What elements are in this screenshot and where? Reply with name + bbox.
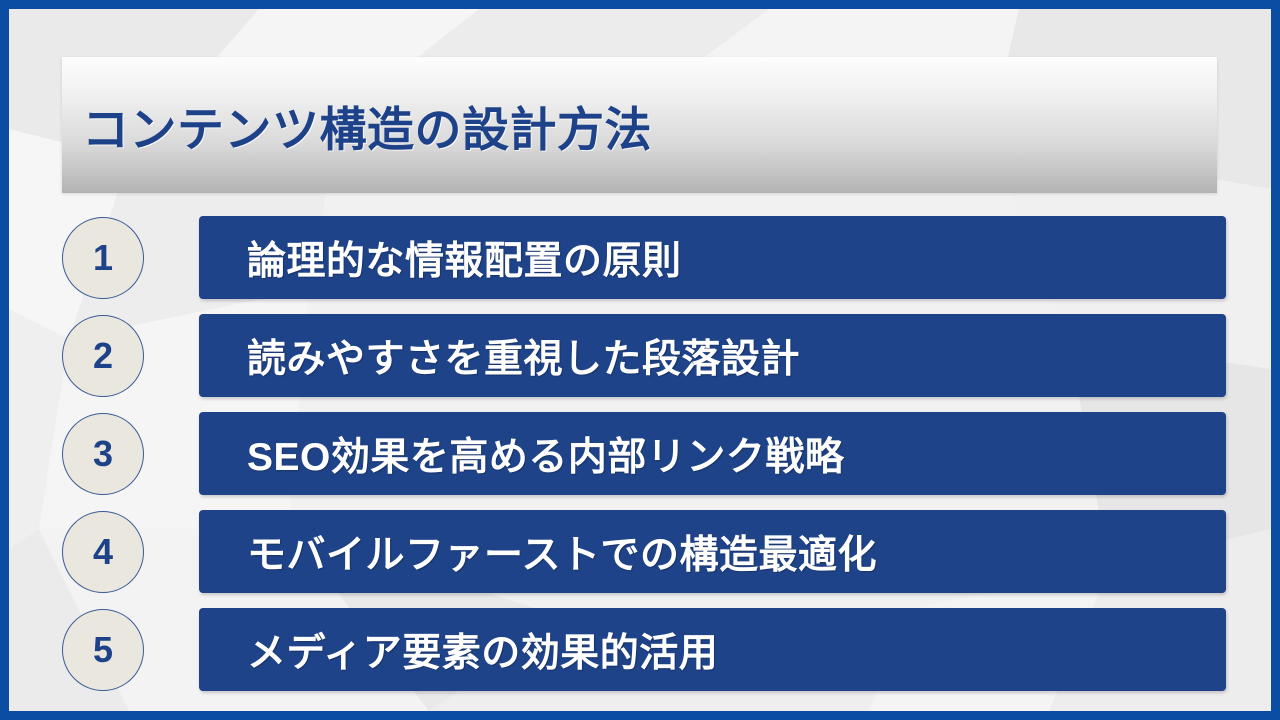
list-number-badge: 4 xyxy=(62,511,144,593)
list-item-bar[interactable]: 論理的な情報配置の原則 xyxy=(199,216,1226,299)
list-item-label: モバイルファーストでの構造最適化 xyxy=(247,524,877,580)
list-item-bar[interactable]: モバイルファーストでの構造最適化 xyxy=(199,510,1226,593)
list-number-badge: 3 xyxy=(62,413,144,495)
page-title: コンテンツ構造の設計方法 xyxy=(82,91,652,160)
slide-canvas: コンテンツ構造の設計方法 1 論理的な情報配置の原則 2 読みやすさを重視した段… xyxy=(9,9,1271,711)
list-item-bar[interactable]: SEO効果を高める内部リンク戦略 xyxy=(199,412,1226,495)
list-item-label: 論理的な情報配置の原則 xyxy=(247,230,682,286)
list-number-label: 1 xyxy=(93,240,113,276)
list-item[interactable]: 2 読みやすさを重視した段落設計 xyxy=(62,314,1226,397)
presentation-slide: コンテンツ構造の設計方法 1 論理的な情報配置の原則 2 読みやすさを重視した段… xyxy=(0,0,1280,720)
list-item[interactable]: 4 モバイルファーストでの構造最適化 xyxy=(62,510,1226,593)
list-item-label: 読みやすさを重視した段落設計 xyxy=(247,328,800,384)
list-number-label: 2 xyxy=(93,338,113,374)
numbered-list: 1 論理的な情報配置の原則 2 読みやすさを重視した段落設計 3 xyxy=(62,216,1226,691)
list-item[interactable]: 1 論理的な情報配置の原則 xyxy=(62,216,1226,299)
slide-title-bar: コンテンツ構造の設計方法 xyxy=(62,57,1217,193)
list-item-bar[interactable]: メディア要素の効果的活用 xyxy=(199,608,1226,691)
list-number-label: 5 xyxy=(93,632,113,668)
list-item[interactable]: 5 メディア要素の効果的活用 xyxy=(62,608,1226,691)
list-number-label: 4 xyxy=(93,534,113,570)
list-number-badge: 5 xyxy=(62,609,144,691)
list-item[interactable]: 3 SEO効果を高める内部リンク戦略 xyxy=(62,412,1226,495)
list-item-bar[interactable]: 読みやすさを重視した段落設計 xyxy=(199,314,1226,397)
list-number-badge: 2 xyxy=(62,315,144,397)
list-item-label: メディア要素の効果的活用 xyxy=(247,622,718,678)
list-number-badge: 1 xyxy=(62,217,144,299)
list-number-label: 3 xyxy=(93,436,113,472)
list-item-label: SEO効果を高める内部リンク戦略 xyxy=(247,426,844,482)
